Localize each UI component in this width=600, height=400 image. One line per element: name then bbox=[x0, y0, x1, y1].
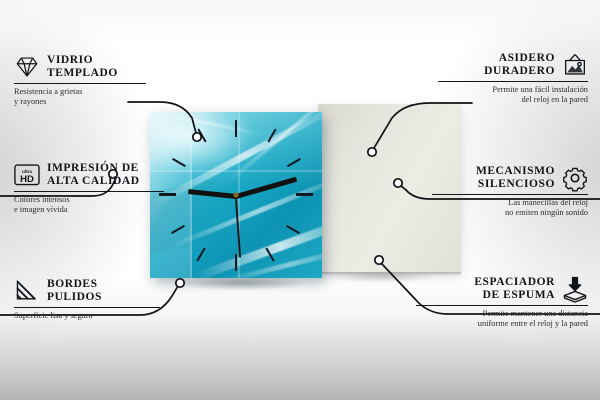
diamond-icon bbox=[14, 54, 40, 80]
feature-bordes-pulidos[interactable]: BORDES PULIDOS Superficie lisa y segura bbox=[14, 278, 160, 321]
feature-mecanismo-silencioso[interactable]: MECANISMO SILENCIOSO Las manecillas del … bbox=[432, 165, 588, 218]
feature-desc-line2: no emiten ningún sonido bbox=[432, 208, 588, 218]
tick-6 bbox=[235, 254, 237, 271]
feature-desc-line2: y rayones bbox=[14, 97, 146, 107]
polished-edges-icon bbox=[14, 278, 40, 304]
feature-asidero-duradero[interactable]: ASIDERO DURADERO Permite una fácil insta… bbox=[438, 52, 588, 105]
feature-vidrio-templado[interactable]: VIDRIO TEMPLADO Resistencia a grietas y … bbox=[14, 54, 146, 107]
feature-title: ASIDERO DURADERO bbox=[484, 52, 555, 78]
feature-title: IMPRESIÓN DE ALTA CALIDAD bbox=[47, 162, 140, 188]
feature-desc-line1: Resistencia a grietas bbox=[14, 87, 146, 97]
feature-desc-line1: Las manecillas del reloj bbox=[432, 198, 588, 208]
feature-header: VIDRIO TEMPLADO bbox=[14, 54, 146, 80]
feature-desc-line1: Colores intensos bbox=[14, 195, 164, 205]
feature-espaciador-de-espuma[interactable]: ESPACIADOR DE ESPUMA Permite mantener un… bbox=[416, 276, 588, 329]
feature-header: ESPACIADOR DE ESPUMA bbox=[416, 276, 588, 302]
gear-icon bbox=[562, 165, 588, 191]
feature-title: VIDRIO TEMPLADO bbox=[47, 54, 118, 80]
feature-desc-line2: e imagen vívida bbox=[14, 205, 164, 215]
feature-divider bbox=[416, 305, 588, 306]
feature-header: BORDES PULIDOS bbox=[14, 278, 160, 304]
tick-4 bbox=[286, 225, 300, 234]
feature-divider bbox=[14, 191, 164, 192]
hanging-frame-icon bbox=[562, 52, 588, 78]
glass-clock-face bbox=[150, 112, 322, 278]
feature-divider bbox=[438, 81, 588, 82]
feature-desc-line2: del reloj en la pared bbox=[438, 95, 588, 105]
feature-impresion-alta-calidad[interactable]: ultra HD IMPRESIÓN DE ALTA CALIDAD Color… bbox=[14, 162, 164, 215]
feature-title: BORDES PULIDOS bbox=[47, 278, 102, 304]
feature-header: ASIDERO DURADERO bbox=[438, 52, 588, 78]
infographic-stage: ALKALINE bbox=[0, 0, 600, 400]
feature-title: ESPACIADOR DE ESPUMA bbox=[474, 276, 555, 302]
feature-desc-line1: Permite una fácil instalación bbox=[438, 85, 588, 95]
feature-desc-line1: Superficie lisa y segura bbox=[14, 311, 160, 321]
feature-title: MECANISMO SILENCIOSO bbox=[476, 165, 555, 191]
tick-3 bbox=[296, 193, 313, 196]
svg-text:HD: HD bbox=[20, 174, 34, 185]
foam-spacer-arrow-icon bbox=[562, 276, 588, 302]
feature-header: MECANISMO SILENCIOSO bbox=[432, 165, 588, 191]
feature-desc-line1: Permite mantener una distancia bbox=[416, 309, 588, 319]
hands-center-pin bbox=[234, 193, 239, 198]
feature-desc-line2: uniforme entre el reloj y la pared bbox=[416, 319, 588, 329]
tick-7 bbox=[196, 248, 205, 262]
tick-12 bbox=[235, 120, 237, 137]
feature-divider bbox=[14, 307, 160, 308]
feature-divider bbox=[432, 194, 588, 195]
ultra-hd-icon: ultra HD bbox=[14, 162, 40, 188]
feature-divider bbox=[14, 83, 146, 84]
feature-header: ultra HD IMPRESIÓN DE ALTA CALIDAD bbox=[14, 162, 164, 188]
